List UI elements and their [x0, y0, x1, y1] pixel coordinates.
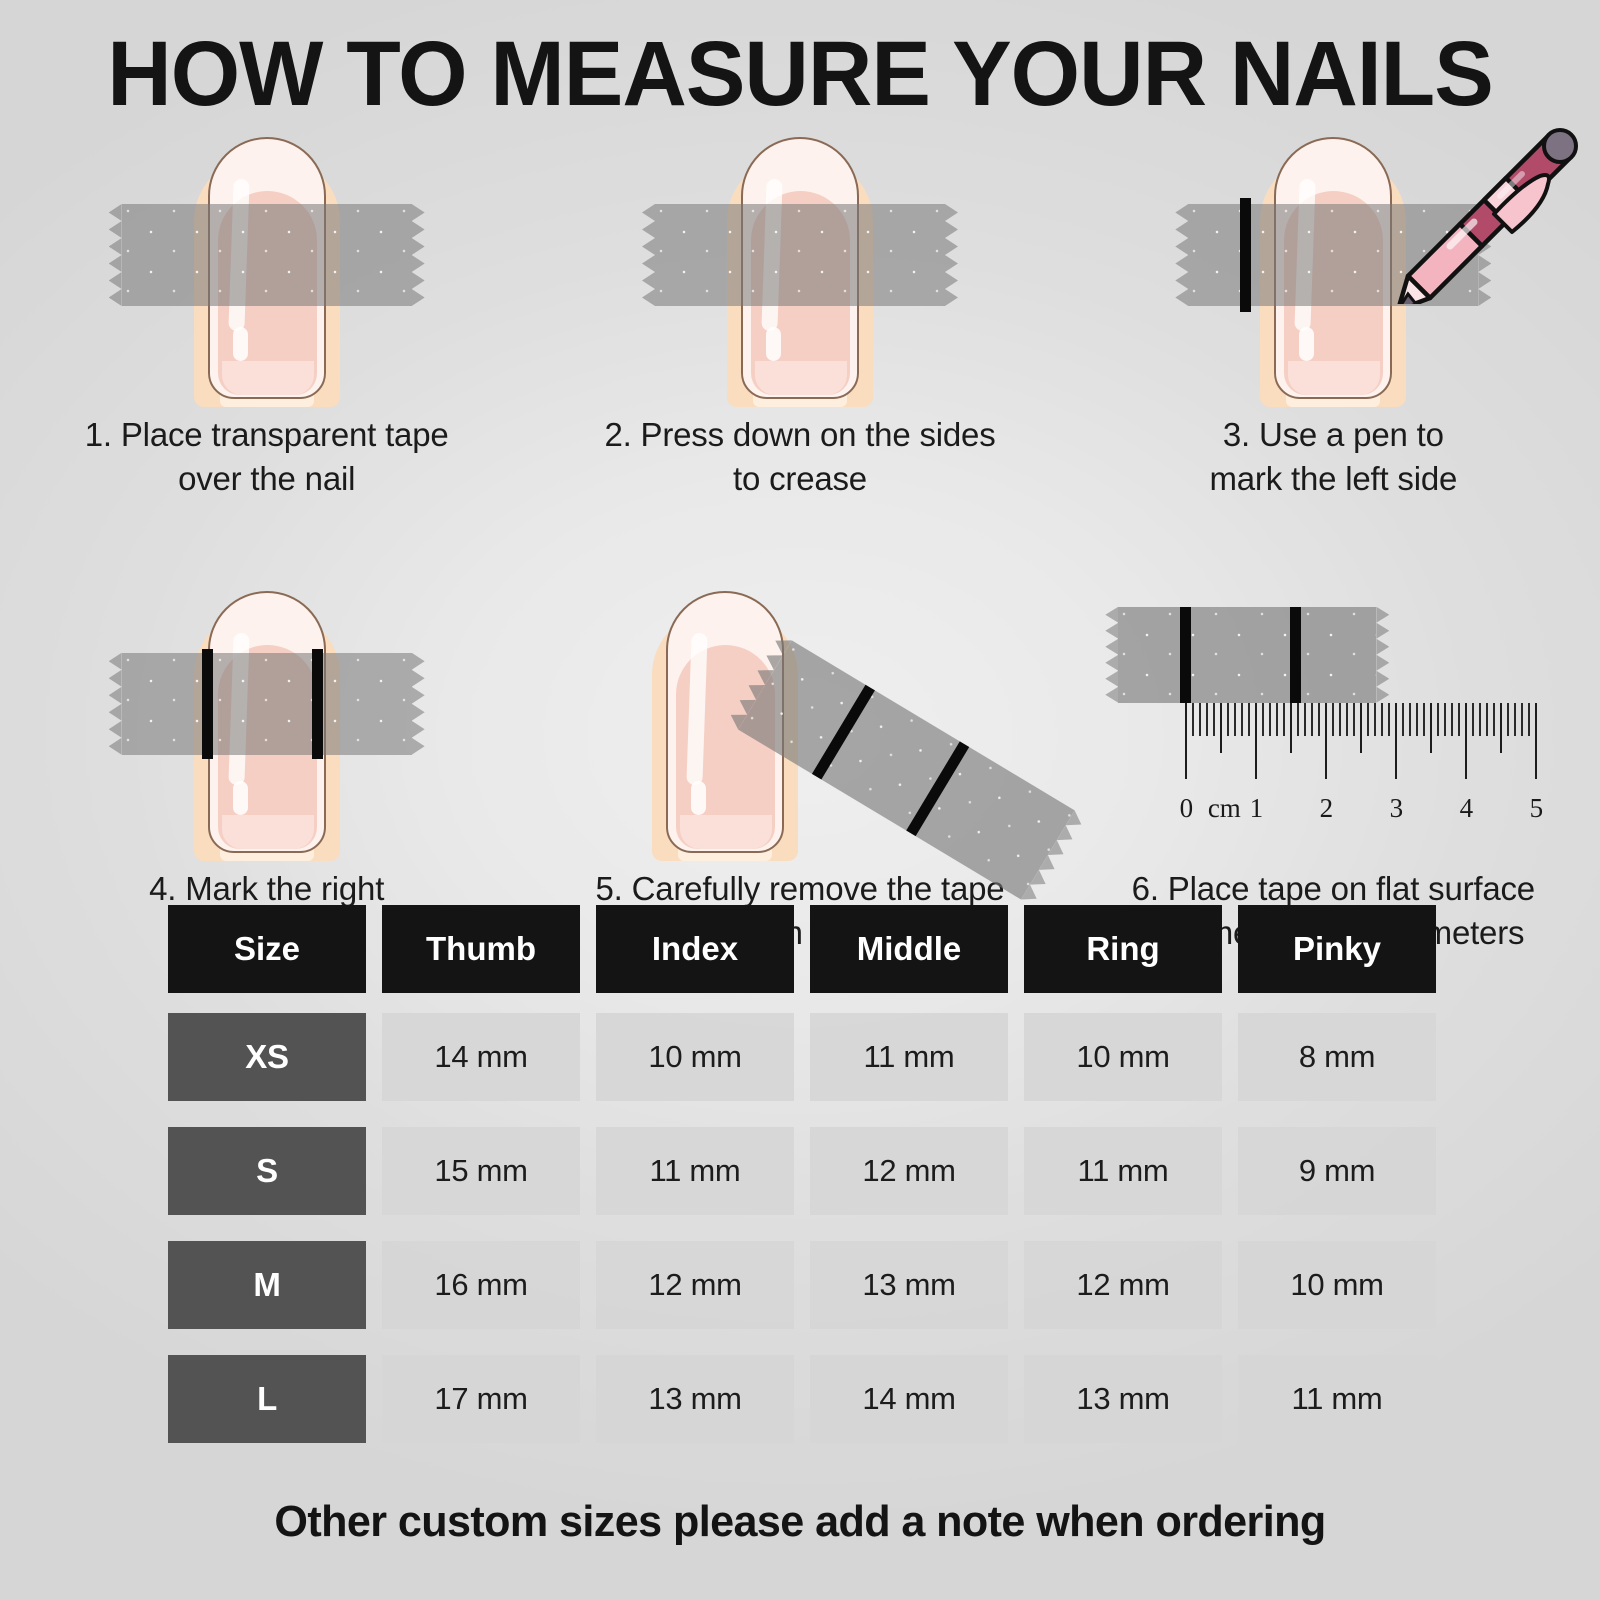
step-6: 0 cm 1 2 3 4 5 6. Place tape on flat sur… [1067, 571, 1600, 955]
tape-zigzag-left [1175, 204, 1188, 306]
cell-m-pinky: 10 mm [1238, 1241, 1436, 1329]
nail-moon [755, 361, 847, 395]
step-3-caption: 3. Use a pen to mark the left side [1067, 413, 1600, 501]
nail-moon [1288, 361, 1380, 395]
right-edge-mark [312, 649, 323, 759]
tape-speckle-texture [122, 204, 412, 306]
cell-s-thumb: 15 mm [382, 1127, 580, 1215]
step-2-caption-line-2: to crease [555, 457, 1044, 501]
cell-l-thumb: 17 mm [382, 1355, 580, 1443]
size-label-m: M [168, 1241, 366, 1329]
column-header-middle: Middle [810, 905, 1008, 993]
left-edge-mark [1180, 607, 1191, 703]
tape-strip-creased [655, 204, 945, 306]
tape-zigzag-left [109, 653, 122, 755]
step-4: 4. Mark the right side next [0, 571, 533, 955]
cell-s-ring: 11 mm [1024, 1127, 1222, 1215]
step-1-caption: 1. Place transparent tape over the nail [0, 413, 533, 501]
ruler-unit-label: cm [1208, 793, 1241, 824]
tape-zigzag-left [642, 204, 655, 306]
table-row: XS 14 mm 10 mm 11 mm 10 mm 8 mm [168, 1013, 1436, 1101]
tape-zigzag-left [1105, 607, 1118, 703]
step-3-caption-line-1: 3. Use a pen to [1089, 413, 1578, 457]
ruler-label-0: 0 [1180, 793, 1194, 824]
cell-m-ring: 12 mm [1024, 1241, 1222, 1329]
column-header-thumb: Thumb [382, 905, 580, 993]
table-row: L 17 mm 13 mm 14 mm 13 mm 11 mm [168, 1355, 1436, 1443]
step-1: 1. Place transparent tape over the nail [0, 122, 533, 501]
step-2-illustration [533, 122, 1066, 407]
ruler-label-1: 1 [1250, 793, 1264, 824]
step-3-illustration [1067, 122, 1600, 407]
cell-m-index: 12 mm [596, 1241, 794, 1329]
tape-zigzag-right [412, 653, 425, 755]
cell-xs-ring: 10 mm [1024, 1013, 1222, 1101]
cell-l-index: 13 mm [596, 1355, 794, 1443]
cell-xs-middle: 11 mm [810, 1013, 1008, 1101]
ruler-label-3: 3 [1390, 793, 1404, 824]
nail-moon [222, 361, 314, 395]
cell-s-pinky: 9 mm [1238, 1127, 1436, 1215]
ruler-label-5: 5 [1530, 793, 1544, 824]
cell-xs-pinky: 8 mm [1238, 1013, 1436, 1101]
cell-xs-thumb: 14 mm [382, 1013, 580, 1101]
page-title: HOW TO MEASURE YOUR NAILS [24, 28, 1576, 120]
size-label-xs: XS [168, 1013, 366, 1101]
size-chart-table: Size Thumb Index Middle Ring Pinky XS 14… [168, 905, 1436, 1469]
cell-l-middle: 14 mm [810, 1355, 1008, 1443]
column-header-ring: Ring [1024, 905, 1222, 993]
table-row: M 16 mm 12 mm 13 mm 12 mm 10 mm [168, 1241, 1436, 1329]
tape-strip-flat [1118, 607, 1376, 703]
column-header-index: Index [596, 905, 794, 993]
steps-row-top: 1. Place transparent tape over the nail [0, 122, 1600, 501]
ruler-measurement-group: 0 cm 1 2 3 4 5 [1118, 607, 1548, 837]
tape-speckle-texture [122, 653, 412, 755]
cell-l-pinky: 11 mm [1238, 1355, 1436, 1443]
cell-l-ring: 13 mm [1024, 1355, 1222, 1443]
tape-speckle-texture [1118, 607, 1376, 703]
cell-s-index: 11 mm [596, 1127, 794, 1215]
left-edge-mark [1240, 198, 1251, 312]
nail-moon [222, 815, 314, 849]
cell-s-middle: 12 mm [810, 1127, 1008, 1215]
nail-shine-small-icon [691, 781, 706, 815]
column-header-pinky: Pinky [1238, 905, 1436, 993]
step-3: 3. Use a pen to mark the left side [1067, 122, 1600, 501]
step-2: 2. Press down on the sides to crease [533, 122, 1066, 501]
cell-m-thumb: 16 mm [382, 1241, 580, 1329]
table-header-row: Size Thumb Index Middle Ring Pinky [168, 905, 1436, 993]
step-5-illustration [533, 571, 1066, 861]
step-1-illustration [0, 122, 533, 407]
right-edge-mark [1290, 607, 1301, 703]
steps-section: 1. Place transparent tape over the nail [0, 122, 1600, 955]
nail-moon [680, 815, 772, 849]
step-4-illustration [0, 571, 533, 861]
ruler-label-2: 2 [1320, 793, 1334, 824]
tape-strip [122, 204, 412, 306]
nail-size-guide-infographic: HOW TO MEASURE YOUR NAILS [0, 0, 1600, 1600]
ruler-tick-labels: 0 cm 1 2 3 4 5 [1118, 793, 1548, 833]
tape-zigzag-right [412, 204, 425, 306]
cell-m-middle: 13 mm [810, 1241, 1008, 1329]
table-row: S 15 mm 11 mm 12 mm 11 mm 9 mm [168, 1127, 1436, 1215]
step-3-caption-line-2: mark the left side [1089, 457, 1578, 501]
size-label-s: S [168, 1127, 366, 1215]
pen-icon [1334, 114, 1584, 304]
column-header-size: Size [168, 905, 366, 993]
cell-xs-index: 10 mm [596, 1013, 794, 1101]
step-2-caption-line-1: 2. Press down on the sides [555, 413, 1044, 457]
tape-zigzag-right [1376, 607, 1389, 703]
steps-row-bottom: 4. Mark the right side next [0, 571, 1600, 955]
tape-zigzag-left [109, 204, 122, 306]
tape-zigzag-right [945, 204, 958, 306]
step-6-illustration: 0 cm 1 2 3 4 5 [1067, 571, 1600, 861]
nail-shine-small-icon [233, 781, 248, 815]
step-1-caption-line-1: 1. Place transparent tape [22, 413, 511, 457]
step-5: 5. Carefully remove the tape from nail [533, 571, 1066, 955]
nail-shine-small-icon [1299, 327, 1314, 361]
step-2-caption: 2. Press down on the sides to crease [533, 413, 1066, 501]
nail-shine-small-icon [233, 327, 248, 361]
tape-strip [122, 653, 412, 755]
step-1-caption-line-2: over the nail [22, 457, 511, 501]
custom-size-note: Other custom sizes please add a note whe… [16, 1497, 1584, 1547]
tape-speckle-texture [655, 204, 945, 306]
nail-shine-small-icon [766, 327, 781, 361]
size-label-l: L [168, 1355, 366, 1443]
left-edge-mark [202, 649, 213, 759]
ruler-label-4: 4 [1460, 793, 1474, 824]
